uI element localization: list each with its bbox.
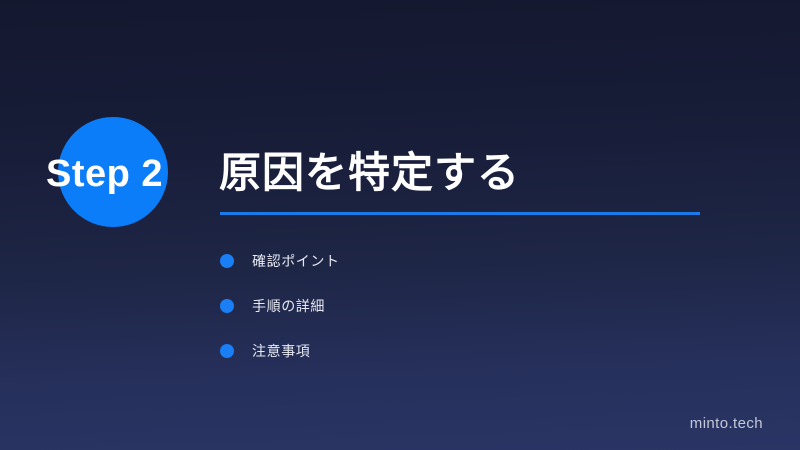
bullet-item-label: 確認ポイント [252,252,340,270]
title-divider-rule [220,212,700,215]
bullet-dot-icon [220,254,234,268]
slide-title: 原因を特定する [219,148,520,198]
bullet-dot-icon [220,344,234,358]
step-badge-label: Step 2 [46,152,206,196]
bullet-item-label: 手順の詳細 [252,297,325,315]
watermark-brand: minto.tech [690,415,763,432]
list-item: 確認ポイント [220,238,680,283]
bullet-list: 確認ポイント 手順の詳細 注意事項 [220,238,680,373]
list-item: 手順の詳細 [220,283,680,328]
presentation-slide: Step 2 原因を特定する 確認ポイント 手順の詳細 注意事項 minto.t… [0,0,800,450]
bullet-item-label: 注意事項 [252,342,310,360]
bullet-dot-icon [220,299,234,313]
list-item: 注意事項 [220,328,680,373]
